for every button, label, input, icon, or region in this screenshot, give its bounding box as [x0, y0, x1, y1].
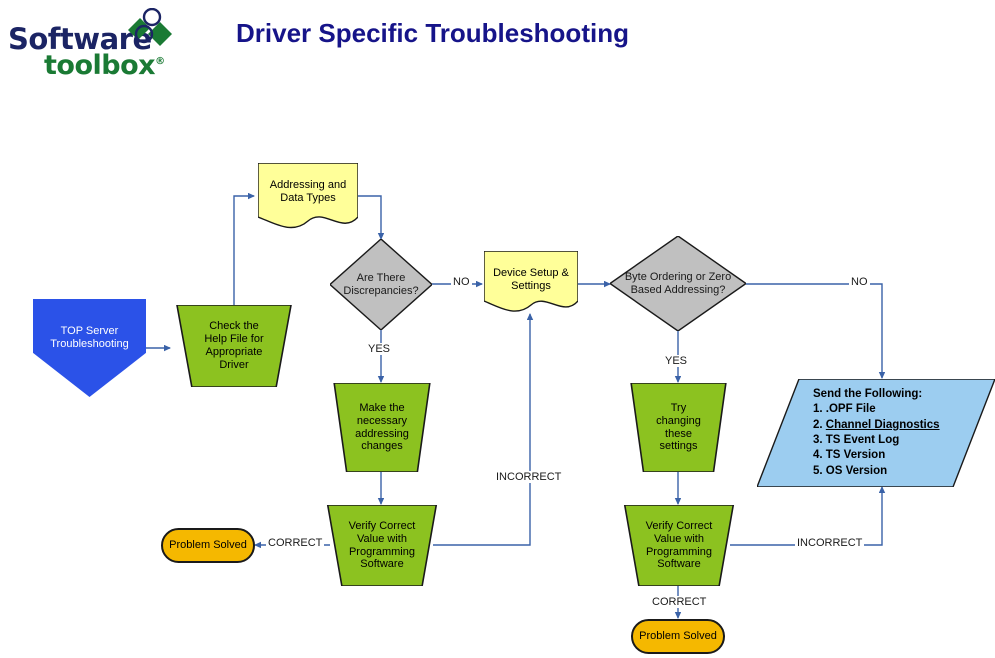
node-start-line1: TOP Server — [50, 325, 128, 338]
node-help-line1: Check the — [204, 320, 263, 333]
send-item-2-number: 2. — [813, 419, 826, 431]
node-discrepancies-line1: Are There — [343, 272, 418, 285]
node-byteorder-line2: Based Addressing? — [625, 284, 731, 297]
edge-addressing-discrepancies — [358, 196, 381, 239]
send-item-3: 3. TS Event Log — [813, 433, 940, 448]
edge-label-no-2: NO — [849, 276, 870, 288]
flowchart-connectors — [0, 0, 995, 658]
node-verifyleft-line1: Verify Correct — [349, 520, 416, 533]
edge-label-yes-1: YES — [366, 343, 392, 355]
node-help-line3: Appropriate — [204, 346, 263, 359]
node-help-line4: Driver — [204, 359, 263, 372]
node-verifyright-line4: Software — [646, 558, 713, 571]
node-trysettings-line4: settings — [656, 440, 701, 453]
node-device-setup-settings[interactable]: Device Setup & Settings — [484, 251, 578, 315]
node-verifyleft-line2: Value with — [349, 533, 416, 546]
node-trysettings-line3: these — [656, 428, 701, 441]
node-devicesetup-line1: Device Setup & — [493, 267, 569, 280]
node-makechanges-line3: addressing — [355, 428, 409, 441]
node-verifyright-line1: Verify Correct — [646, 520, 713, 533]
node-byte-ordering-zero-based-addressing[interactable]: Byte Ordering or Zero Based Addressing? — [610, 236, 746, 331]
node-addressing-and-data-types[interactable]: Addressing and Data Types — [258, 163, 358, 231]
node-trysettings-line1: Try — [656, 402, 701, 415]
node-try-changing-settings[interactable]: Try changing these settings — [627, 383, 730, 472]
node-problem-solved-left[interactable]: Problem Solved — [161, 528, 255, 563]
node-solvedleft-label: Problem Solved — [165, 539, 251, 552]
node-makechanges-line4: changes — [355, 440, 409, 453]
edge-verifyleft-devicesetup — [433, 314, 530, 545]
send-heading: Send the Following: — [813, 387, 940, 402]
node-help-line2: Help File for — [204, 333, 263, 346]
node-byteorder-line1: Byte Ordering or Zero — [625, 271, 731, 284]
node-are-there-discrepancies[interactable]: Are There Discrepancies? — [330, 239, 432, 330]
node-verify-correct-value-left[interactable]: Verify Correct Value with Programming So… — [323, 505, 441, 586]
node-verifyleft-line3: Programming — [349, 546, 416, 559]
channel-diagnostics-link[interactable]: Channel Diagnostics — [826, 419, 940, 431]
node-verifyleft-line4: Software — [349, 558, 416, 571]
node-verifyright-line2: Value with — [646, 533, 713, 546]
node-devicesetup-line2: Settings — [493, 280, 569, 293]
node-make-addressing-changes[interactable]: Make the necessary addressing changes — [330, 383, 434, 472]
edge-label-no-1: NO — [451, 276, 472, 288]
node-start-line2: Troubleshooting — [50, 338, 128, 351]
send-item-5: 5. OS Version — [813, 464, 940, 479]
node-addressing-line2: Data Types — [270, 192, 346, 205]
edge-label-incorrect-1: INCORRECT — [494, 471, 563, 483]
node-addressing-line1: Addressing and — [270, 179, 346, 192]
node-trysettings-line2: changing — [656, 415, 701, 428]
edge-byteorder-send — [746, 284, 882, 378]
node-problem-solved-bottom[interactable]: Problem Solved — [631, 619, 725, 654]
send-item-4: 4. TS Version — [813, 448, 940, 463]
node-discrepancies-line2: Discrepancies? — [343, 285, 418, 298]
node-solvedbottom-label: Problem Solved — [635, 630, 721, 643]
node-makechanges-line2: necessary — [355, 415, 409, 428]
node-verify-correct-value-right[interactable]: Verify Correct Value with Programming So… — [620, 505, 738, 586]
edge-label-incorrect-2: INCORRECT — [795, 537, 864, 549]
send-item-1: 1. .OPF File — [813, 402, 940, 417]
edge-label-correct-2: CORRECT — [650, 596, 708, 608]
node-verifyright-line3: Programming — [646, 546, 713, 559]
node-send-the-following[interactable]: Send the Following: 1. .OPF File 2. Chan… — [757, 379, 995, 487]
edge-help-addressing — [234, 196, 254, 305]
edge-label-yes-2: YES — [663, 355, 689, 367]
edge-label-correct-1: CORRECT — [266, 537, 324, 549]
node-makechanges-line1: Make the — [355, 402, 409, 415]
node-check-help-file[interactable]: Check the Help File for Appropriate Driv… — [172, 305, 296, 387]
send-item-2: 2. Channel Diagnostics — [813, 418, 940, 433]
